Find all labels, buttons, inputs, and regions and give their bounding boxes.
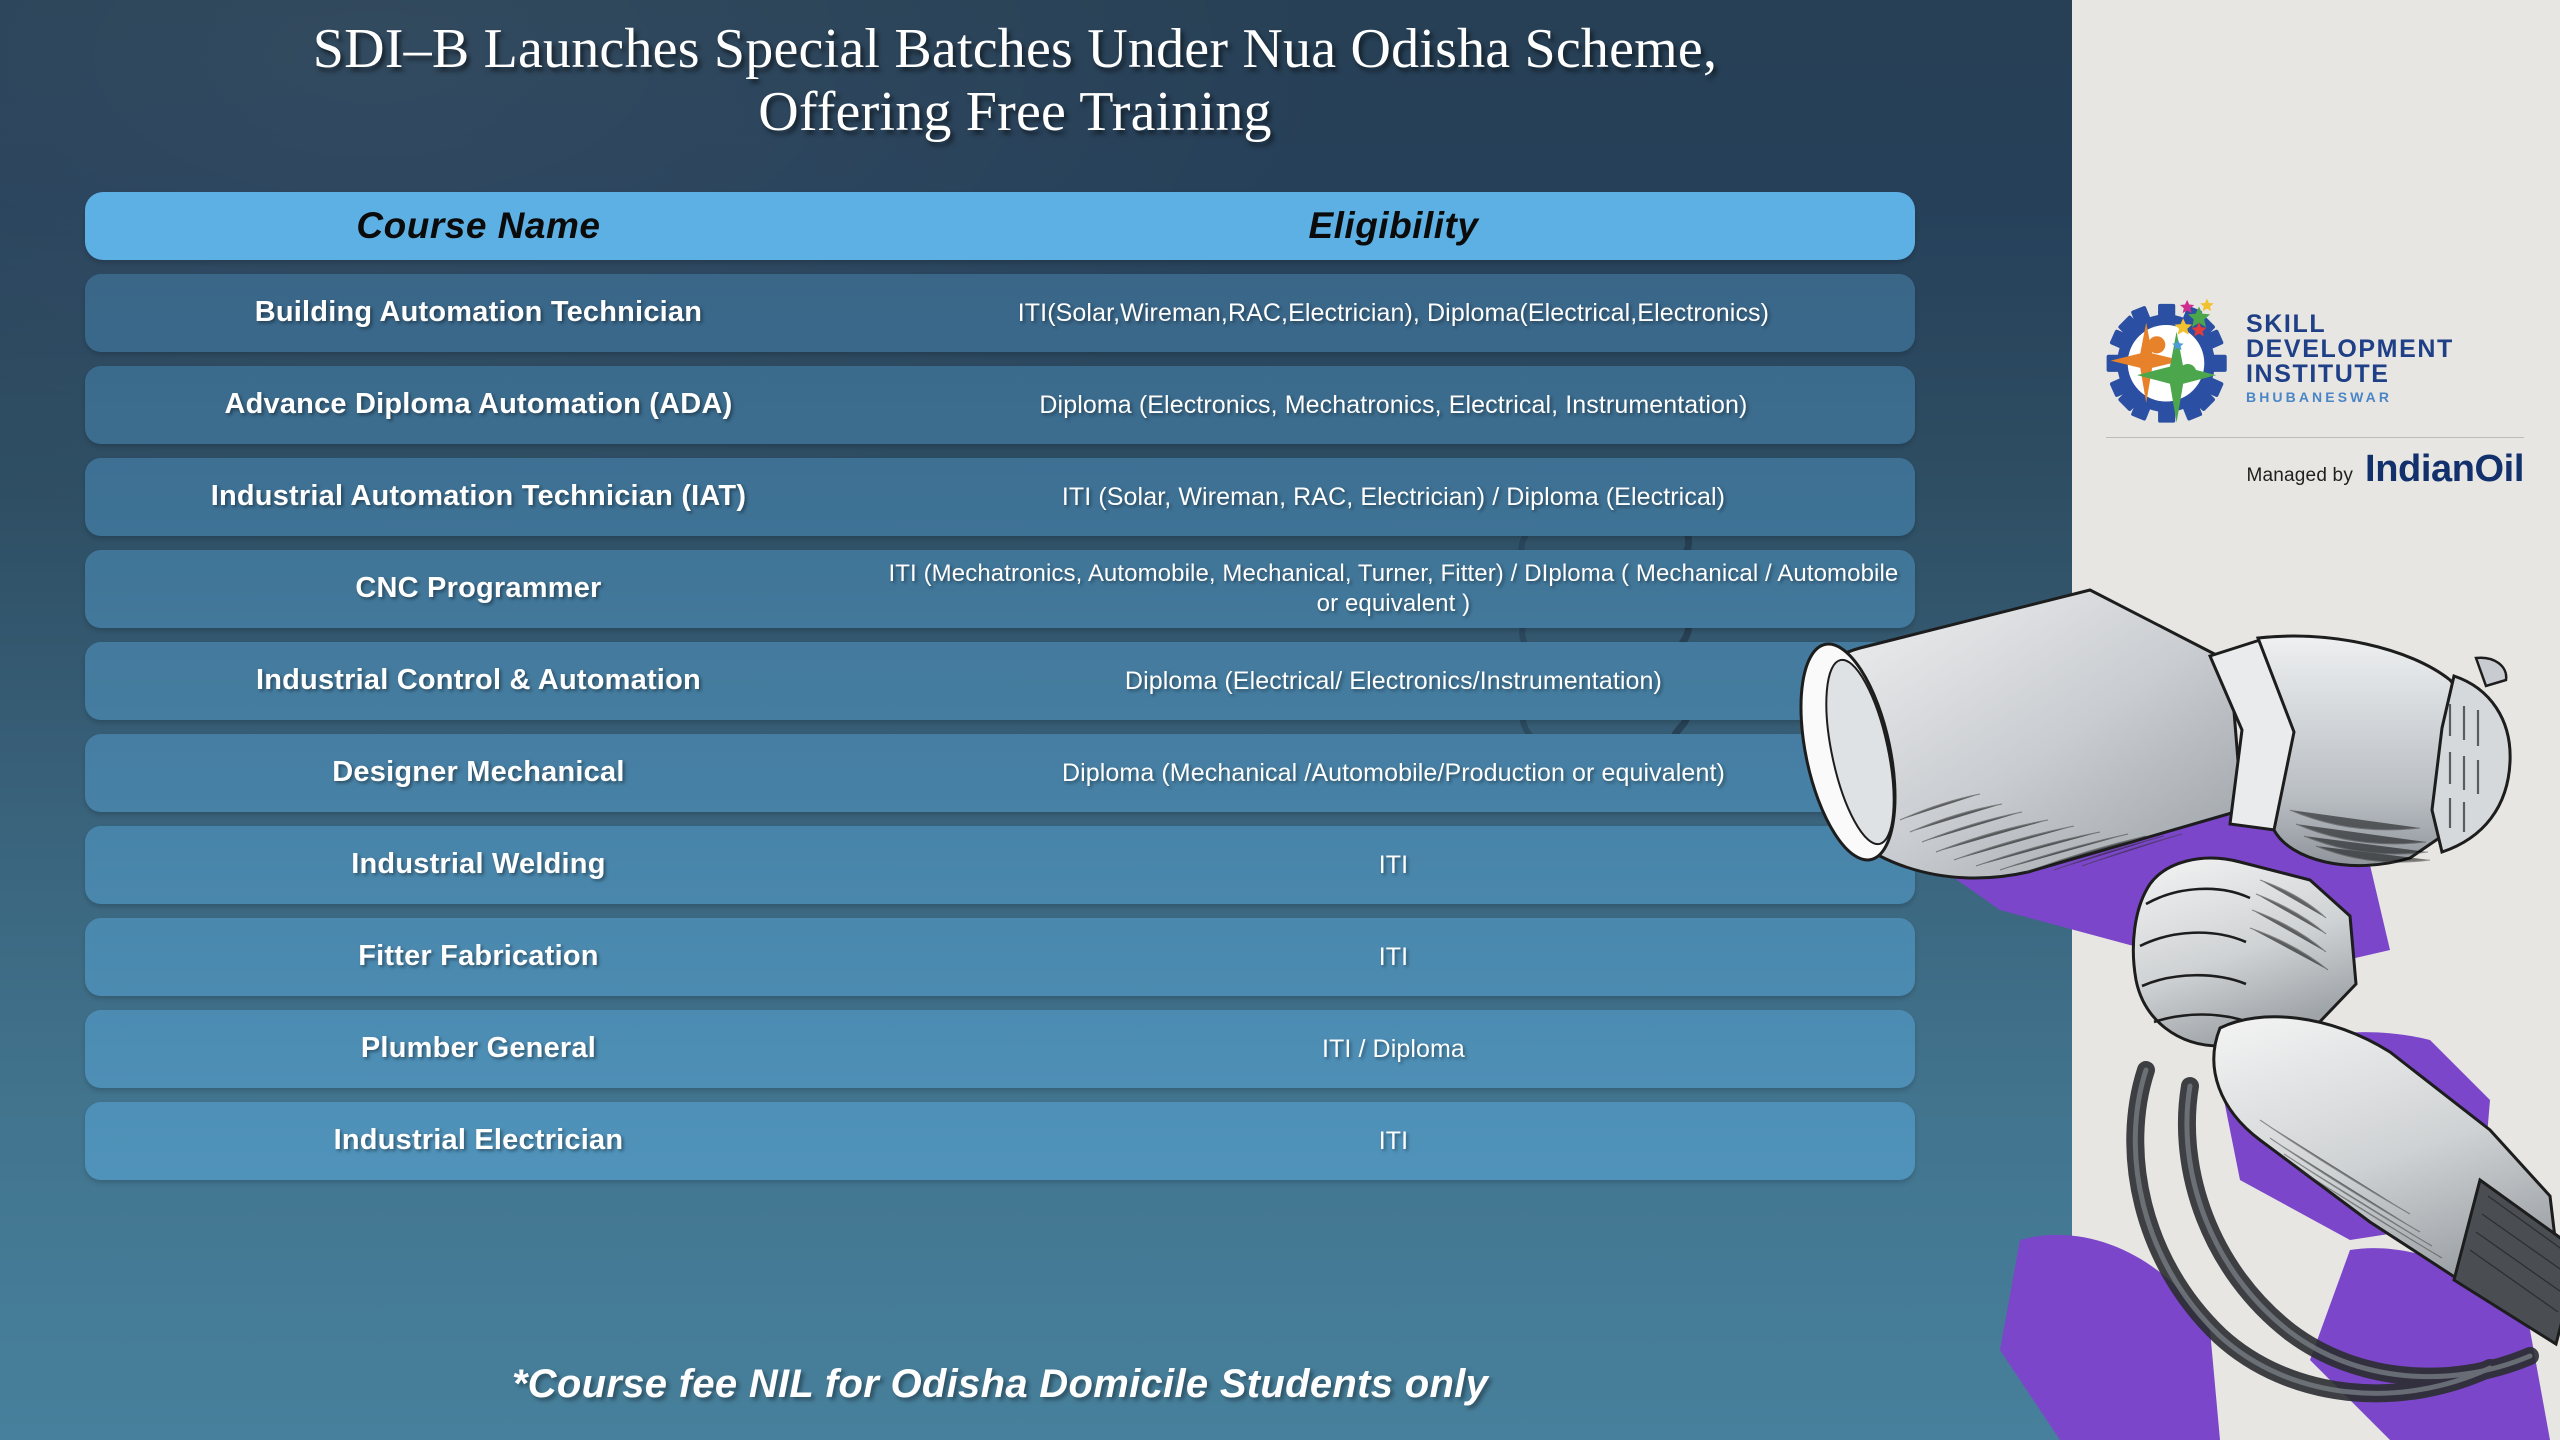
table-row: Fitter Fabrication ITI [85,918,1915,996]
table-row: Advance Diploma Automation (ADA) Diploma… [85,366,1915,444]
cell-eligibility: ITI / Diploma [872,1034,1915,1064]
managed-by-label: Managed by [2246,465,2353,487]
footnote-text: *Course fee NIL for Odisha Domicile Stud… [85,1362,1915,1407]
course-table: Course Name Eligibility Building Automat… [85,192,1915,1194]
table-row: CNC Programmer ITI (Mechatronics, Automo… [85,550,1915,628]
cell-course-name: Advance Diploma Automation (ADA) [85,388,872,421]
cell-eligibility: Diploma (Electronics, Mechatronics, Elec… [872,390,1915,420]
poster-root: SDI–B Launches Special Batches Under Nua… [0,0,2560,1440]
table-header-row: Course Name Eligibility [85,192,1915,260]
gear-people-logo-icon [2100,292,2232,424]
sdi-logo-block: SKILL DEVELOPMENT INSTITUTE BHUBANESWAR … [2100,292,2530,491]
cell-eligibility: ITI (Solar, Wireman, RAC, Electrician) /… [872,482,1915,512]
cell-course-name: Building Automation Technician [85,296,872,329]
cell-course-name: Industrial Welding [85,848,872,881]
cell-course-name: Industrial Control & Automation [85,664,872,697]
logo-divider [2106,437,2524,438]
page-title: SDI–B Launches Special Batches Under Nua… [70,18,1960,143]
cell-course-name: Fitter Fabrication [85,940,872,973]
cell-course-name: Designer Mechanical [85,756,872,789]
logo-line-institute: INSTITUTE [2246,362,2454,387]
cell-eligibility: ITI(Solar,Wireman,RAC,Electrician), Dipl… [872,298,1915,328]
cell-course-name: Industrial Automation Technician (IAT) [85,480,872,513]
table-row: Industrial Welding ITI [85,826,1915,904]
cell-eligibility: Diploma (Mechanical /Automobile/Producti… [872,758,1915,788]
table-row: Industrial Electrician ITI [85,1102,1915,1180]
cell-course-name: Plumber General [85,1032,872,1065]
sdi-logo-lockup: SKILL DEVELOPMENT INSTITUTE BHUBANESWAR [2100,292,2530,424]
cell-eligibility: ITI [872,850,1915,880]
cell-course-name: Industrial Electrician [85,1124,872,1157]
logo-line-development: DEVELOPMENT [2246,337,2454,362]
table-row: Plumber General ITI / Diploma [85,1010,1915,1088]
indianoil-wordmark: IndianOil [2365,448,2524,491]
cell-eligibility: ITI (Mechatronics, Automobile, Mechanica… [872,559,1915,619]
table-row: Designer Mechanical Diploma (Mechanical … [85,734,1915,812]
main-panel: SDI–B Launches Special Batches Under Nua… [0,0,2072,1440]
managed-by-lockup: Managed by IndianOil [2100,448,2530,491]
table-row: Industrial Control & Automation Diploma … [85,642,1915,720]
table-row: Building Automation Technician ITI(Solar… [85,274,1915,352]
column-header-course-name: Course Name [85,205,872,247]
cell-course-name: CNC Programmer [85,572,872,605]
branding-panel: SKILL DEVELOPMENT INSTITUTE BHUBANESWAR … [2072,0,2560,1440]
cell-eligibility: Diploma (Electrical/ Electronics/Instrum… [872,666,1915,696]
sdi-wordmark: SKILL DEVELOPMENT INSTITUTE BHUBANESWAR [2246,312,2454,404]
table-row: Industrial Automation Technician (IAT) I… [85,458,1915,536]
logo-line-city: BHUBANESWAR [2246,390,2454,404]
title-line-2: Offering Free Training [70,81,1960,144]
title-line-1: SDI–B Launches Special Batches Under Nua… [70,18,1960,81]
column-header-eligibility: Eligibility [872,205,1915,247]
cell-eligibility: ITI [872,1126,1915,1156]
cell-eligibility: ITI [872,942,1915,972]
logo-line-skill: SKILL [2246,312,2454,337]
